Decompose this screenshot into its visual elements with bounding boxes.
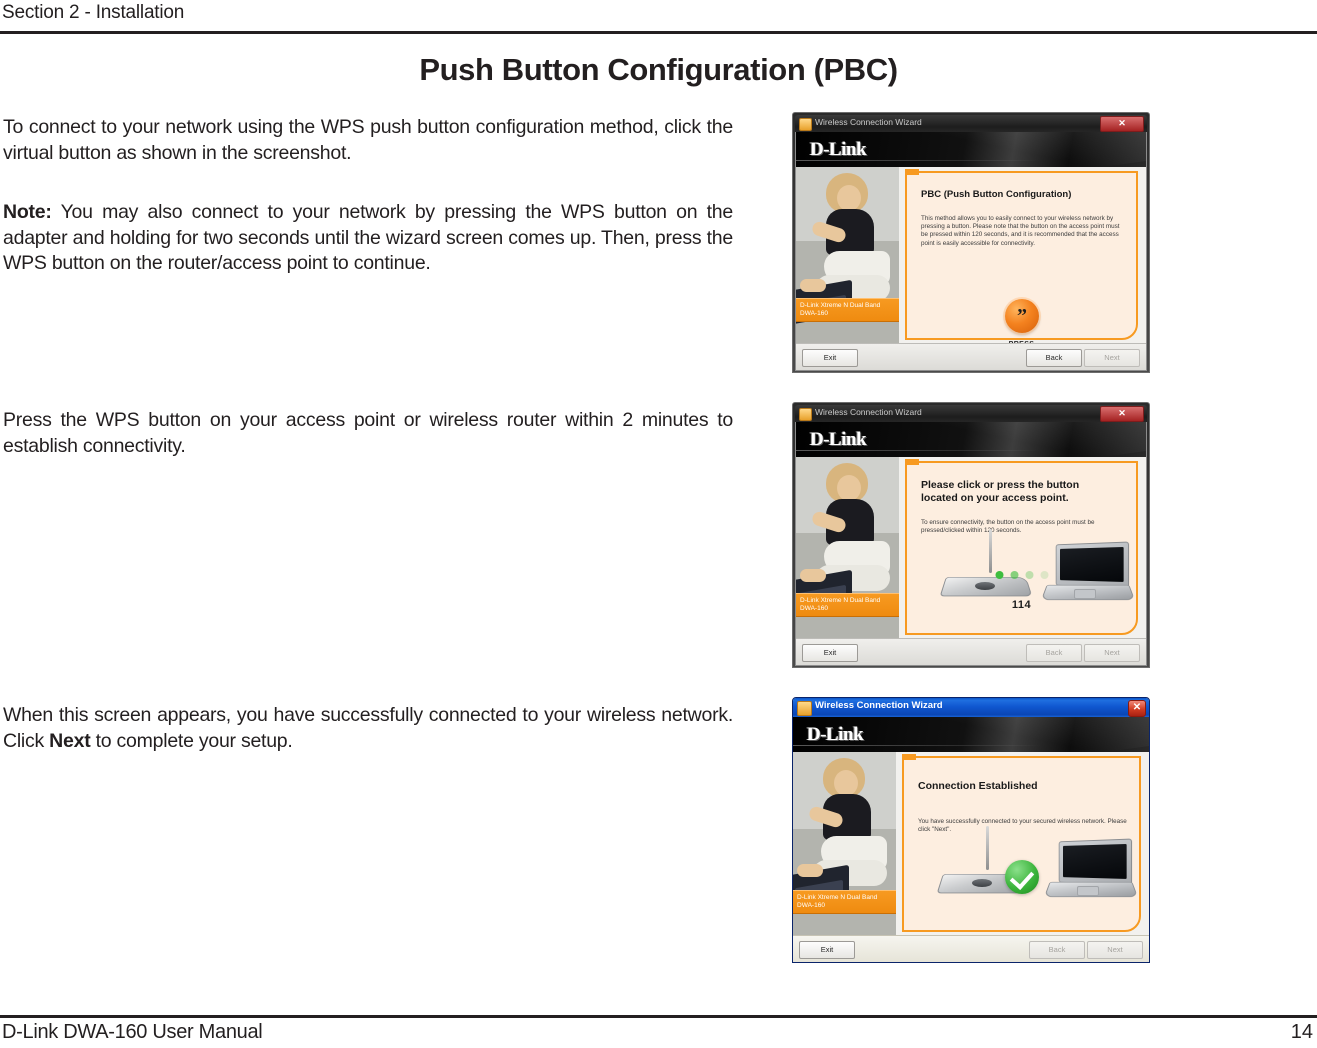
back-button[interactable]: Back (1026, 644, 1082, 662)
dlink-logo: D-Link (807, 724, 863, 746)
banner-swoosh (923, 422, 1146, 457)
panel-title: Connection Established (918, 780, 1129, 792)
panel-title: Please click or press the button located… (921, 479, 1118, 505)
next-keyword: Next (49, 730, 90, 752)
close-icon[interactable]: ✕ (1100, 116, 1144, 132)
dlink-banner: D-Link (796, 132, 1146, 167)
laptop-screen (1059, 838, 1132, 885)
window-footer: Exit Back Next (793, 935, 1149, 962)
photo-hand (800, 569, 826, 582)
signal-dot (1010, 571, 1018, 579)
window-title: Wireless Connection Wizard (815, 700, 943, 711)
dlink-banner: D-Link (796, 422, 1146, 457)
header-divider (0, 31, 1317, 34)
close-icon[interactable]: ✕ (1100, 406, 1144, 422)
window-body: D-Link D-Link Xtreme N Dual Band DW (795, 422, 1147, 666)
signal-dot (1025, 571, 1033, 579)
footer-divider (0, 1015, 1317, 1018)
adapter-caption: D-Link Xtreme N Dual Band DWA-160 (793, 890, 896, 914)
window-body: D-Link D-Link Xtreme N Dual Band DW (795, 132, 1147, 371)
paragraph-success: When this screen appears, you have succe… (3, 703, 733, 754)
laptop-illustration (1040, 543, 1128, 603)
countdown-value: 114 (1012, 599, 1031, 611)
router-antenna-icon (989, 529, 992, 573)
window-footer: Exit Back Next (796, 343, 1146, 370)
panel-frame: Please click or press the button located… (905, 461, 1138, 635)
success-check-icon (1005, 860, 1039, 894)
window-main: D-Link Xtreme N Dual Band DWA-160 Connec… (793, 752, 1149, 936)
next-button[interactable]: Next (1087, 941, 1143, 959)
photo-face (837, 185, 861, 211)
wizard-panel: Connection Established You have successf… (896, 752, 1149, 936)
window-titlebar: Wireless Connection Wizard ✕ (795, 115, 1147, 132)
dlink-logo: D-Link (810, 139, 866, 161)
wps-quote-icon: ” (1017, 306, 1026, 326)
dlink-logo: D-Link (810, 429, 866, 451)
screenshot-press-ap-wizard: Wireless Connection Wizard ✕ D-Link (792, 402, 1150, 668)
router-lens (975, 582, 995, 590)
adapter-caption: D-Link Xtreme N Dual Band DWA-160 (796, 298, 899, 322)
wizard-photo: D-Link Xtreme N Dual Band DWA-160 (796, 457, 899, 639)
wizard-photo: D-Link Xtreme N Dual Band DWA-160 (793, 752, 896, 936)
window-title: Wireless Connection Wizard (815, 407, 922, 417)
router-lens (972, 879, 992, 887)
banner-swoosh (926, 717, 1149, 752)
paragraph-intro: To connect to your network using the WPS… (3, 115, 733, 166)
window-body: D-Link D-Link Xtreme N Dual Band DW (793, 717, 1149, 962)
success-text-b: to complete your setup. (90, 730, 292, 752)
manual-page: Section 2 - Installation Push Button Con… (0, 0, 1317, 1048)
exit-button[interactable]: Exit (802, 349, 858, 367)
photo-face (837, 475, 861, 501)
next-button[interactable]: Next (1084, 349, 1140, 367)
photo-hand (797, 864, 823, 877)
panel-text: To ensure connectivity, the button on th… (921, 519, 1124, 535)
wizard-panel: Please click or press the button located… (899, 457, 1146, 639)
window-app-icon (799, 408, 812, 421)
panel-frame: Connection Established You have successf… (902, 756, 1141, 932)
photo-face (834, 770, 858, 796)
section-label: Section 2 - Installation (2, 2, 184, 24)
laptop-touchpad (1074, 589, 1096, 599)
close-icon[interactable]: ✕ (1128, 700, 1146, 717)
panel-text: This method allows you to easily connect… (921, 215, 1124, 248)
wizard-panel: PBC (Push Button Configuration) This met… (899, 167, 1146, 344)
footer-manual-label: D-Link DWA-160 User Manual (2, 1021, 262, 1044)
router-antenna-icon (986, 826, 989, 870)
laptop-illustration (1043, 840, 1131, 900)
page-title: Push Button Configuration (PBC) (0, 52, 1317, 88)
note-label: Note: (3, 201, 52, 223)
window-titlebar: Wireless Connection Wizard ✕ (793, 698, 1149, 717)
exit-button[interactable]: Exit (799, 941, 855, 959)
adapter-caption: D-Link Xtreme N Dual Band DWA-160 (796, 593, 899, 617)
window-app-icon (799, 118, 812, 131)
laptop-touchpad (1077, 886, 1099, 896)
dlink-banner: D-Link (793, 717, 1149, 752)
exit-button[interactable]: Exit (802, 644, 858, 662)
window-title: Wireless Connection Wizard (815, 117, 922, 127)
note-text: You may also connect to your network by … (3, 201, 733, 274)
screenshot-connection-established-wizard: Wireless Connection Wizard ✕ D-Link (792, 697, 1150, 963)
window-footer: Exit Back Next (796, 638, 1146, 665)
banner-swoosh (923, 132, 1146, 167)
wizard-photo: D-Link Xtreme N Dual Band DWA-160 (796, 167, 899, 344)
wps-press-button[interactable]: ” (1005, 299, 1039, 333)
panel-title: PBC (Push Button Configuration) (921, 189, 1126, 201)
next-button[interactable]: Next (1084, 644, 1140, 662)
paragraph-note: Note: You may also connect to your netwo… (3, 200, 733, 277)
window-app-icon (797, 701, 812, 716)
window-main: D-Link Xtreme N Dual Band DWA-160 PBC (P… (796, 167, 1146, 344)
screenshot-pbc-wizard: Wireless Connection Wizard ✕ D-Link (792, 112, 1150, 373)
window-main: D-Link Xtreme N Dual Band DWA-160 Please… (796, 457, 1146, 639)
back-button[interactable]: Back (1029, 941, 1085, 959)
panel-frame: PBC (Push Button Configuration) This met… (905, 171, 1138, 340)
photo-hand (800, 279, 826, 292)
signal-dot (995, 571, 1003, 579)
window-titlebar: Wireless Connection Wizard ✕ (795, 405, 1147, 422)
back-button[interactable]: Back (1026, 349, 1082, 367)
footer-page-number: 14 (1291, 1021, 1313, 1044)
laptop-screen (1056, 541, 1129, 588)
paragraph-press-wps: Press the WPS button on your access poin… (3, 408, 733, 459)
panel-text: You have successfully connected to your … (918, 818, 1127, 834)
